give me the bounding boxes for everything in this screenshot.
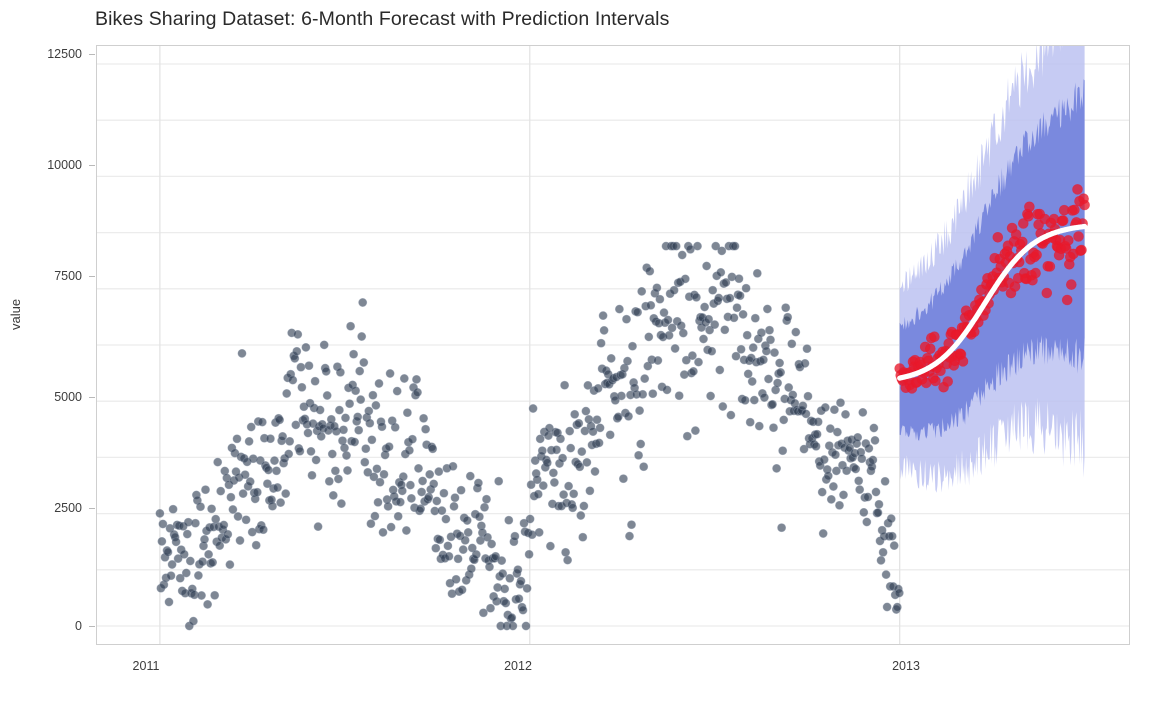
plot-area	[96, 45, 1130, 645]
y-tick-label: 12500	[22, 47, 82, 61]
y-tick-label: 7500	[22, 269, 82, 283]
x-tick-label: 2011	[106, 659, 186, 673]
x-tick-label: 2013	[866, 659, 946, 673]
y-tick-label: 0	[22, 619, 82, 633]
chart-title: Bikes Sharing Dataset: 6-Month Forecast …	[95, 8, 669, 31]
y-tick-mark	[89, 54, 95, 55]
chart-figure: Bikes Sharing Dataset: 6-Month Forecast …	[0, 0, 1152, 720]
plot-canvas	[97, 46, 1129, 644]
y-tick-mark	[89, 165, 95, 166]
y-tick-mark	[89, 508, 95, 509]
y-tick-mark	[89, 276, 95, 277]
y-tick-mark	[89, 397, 95, 398]
y-tick-label: 5000	[22, 390, 82, 404]
y-tick-label: 10000	[22, 158, 82, 172]
x-tick-label: 2012	[478, 659, 558, 673]
y-tick-label: 2500	[22, 501, 82, 515]
y-tick-mark	[89, 626, 95, 627]
y-axis-label: value	[8, 299, 23, 330]
